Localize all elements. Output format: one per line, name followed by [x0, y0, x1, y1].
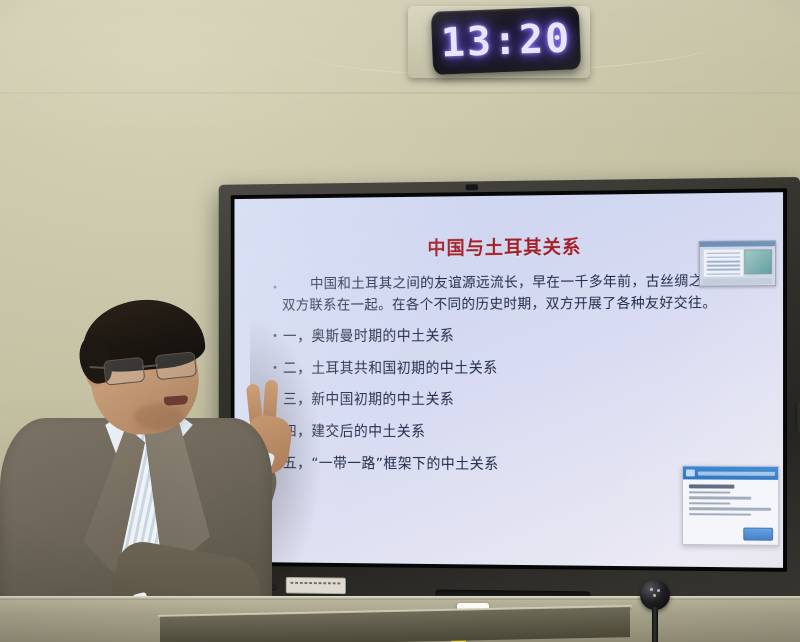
list-item: 四，建交后的中土关系 [274, 422, 760, 443]
dialog-heading [689, 484, 734, 488]
clock-time-display: 13:20 [440, 15, 572, 66]
slide-paragraph: 中国和土耳其之间的友谊源远流长，早在一千多年前，古丝绸之路就把双方联系在一起。在… [282, 270, 759, 316]
thumbnail-taskbar [703, 278, 772, 284]
slide-bullet-list: 一，奥斯曼时期的中土关系 二，土耳其共和国初期的中土关系 三，新中国初期的中土关… [274, 325, 760, 475]
dialog-confirm-button[interactable] [743, 528, 773, 541]
list-item: 一，奥斯曼时期的中土关系 [274, 325, 760, 346]
microphone-stem [652, 607, 658, 642]
dialog-text-line [689, 513, 752, 516]
screenshot-thumbnail [699, 240, 776, 286]
lens-right [155, 351, 197, 380]
counter-edge [0, 596, 800, 600]
list-item: 三，新中国初期的中土关系 [274, 390, 760, 410]
conference-microphone [640, 580, 670, 642]
thumbnail-image-pane [744, 249, 772, 274]
slide-body: 中国和土耳其之间的友谊源远流长，早在一千多年前，古丝绸之路就把双方联系在一起。在… [274, 270, 760, 488]
thumbnail-titlebar [700, 241, 775, 247]
slide-paragraph-row: 中国和土耳其之间的友谊源远流长，早在一千多年前，古丝绸之路就把双方联系在一起。在… [274, 270, 760, 316]
app-logo-icon [686, 469, 695, 476]
dialog-text-line [689, 507, 771, 510]
dialog-title-text [698, 471, 775, 475]
list-item: 二，土耳其共和国初期的中土关系 [274, 358, 760, 378]
display-side-button[interactable] [795, 402, 800, 432]
dialog-text-line [689, 491, 731, 494]
lens-left [103, 357, 145, 386]
dialog-text-line [689, 497, 752, 500]
jaw-shading [134, 404, 184, 430]
microphone-capsule [640, 580, 670, 610]
dialog-text-line [689, 502, 731, 505]
thumbnail-page [704, 250, 744, 277]
digital-wall-clock: 13:20 [431, 6, 581, 75]
dialog-titlebar [683, 466, 778, 479]
wall-ceiling-seam [0, 92, 800, 94]
ir-sensor-icon [466, 184, 478, 190]
classroom-photo-scene: 13:20 中国与土耳其关系 中国和土耳其之间的友谊源远流长，早在一千多年前，古… [0, 0, 800, 642]
presenter [0, 300, 324, 642]
bullet-dot-icon [274, 286, 277, 289]
system-dialog[interactable] [682, 465, 779, 545]
